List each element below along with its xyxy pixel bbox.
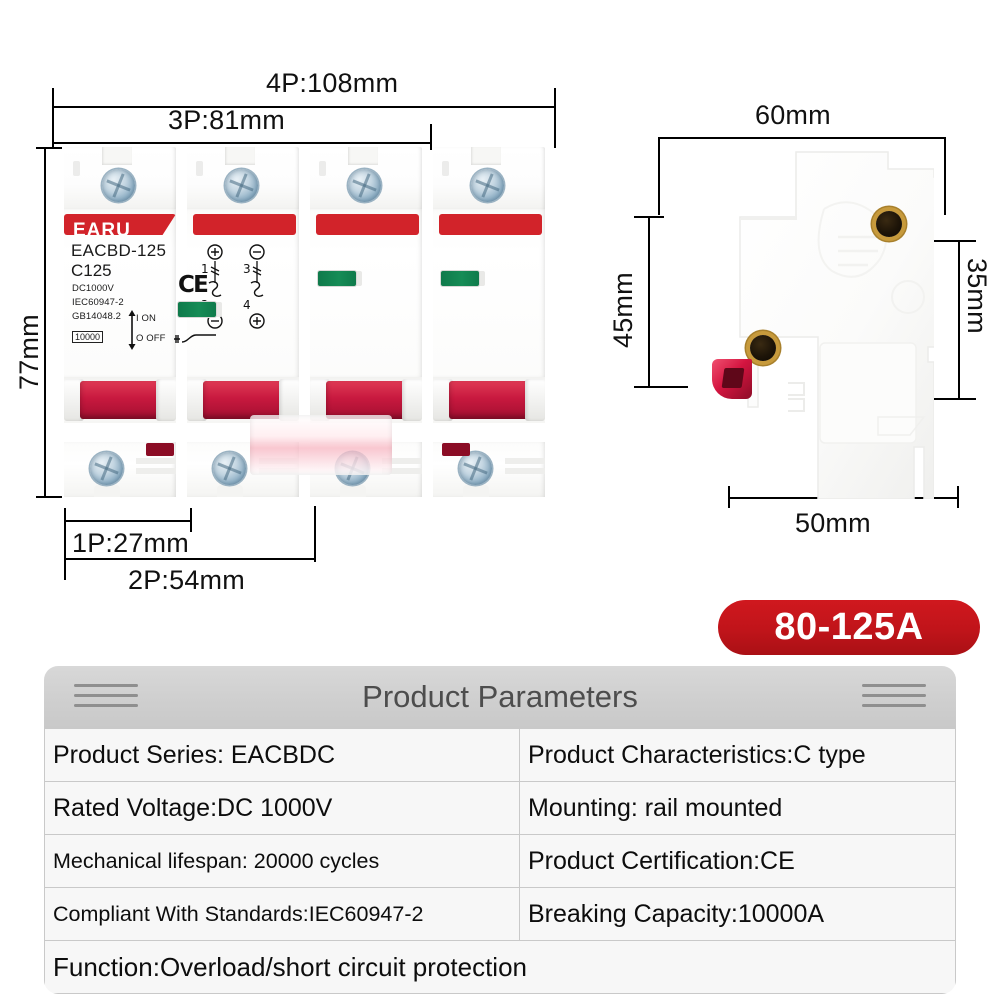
table-row: Mechanical lifespan: 20000 cycles Produc… (45, 835, 956, 888)
table-row: Compliant With Standards:IEC60947-2 Brea… (45, 888, 956, 941)
breaker-front-view: EARU EACBD-125 C125 DC1000V IEC60947-2 G… (62, 147, 554, 497)
param-product-series: Product Series: EACBDC (45, 729, 520, 782)
dimension-label-height: 77mm (14, 314, 45, 390)
device-model: EACBD-125 (71, 241, 166, 261)
device-standard-2: GB14048.2 (72, 311, 121, 322)
dimension-label-2p: 2P:54mm (128, 565, 245, 596)
pole-body-upper (433, 209, 545, 377)
dimension-label-4p: 4P:108mm (266, 68, 398, 99)
pole-body-upper (310, 209, 422, 377)
handle-rib-right (402, 379, 422, 421)
dimension-tick-1p-right (190, 508, 192, 532)
svg-text:4: 4 (243, 298, 251, 312)
breaker-side-view (728, 147, 934, 499)
dimension-label-35mm: 35mm (961, 258, 992, 334)
device-breaking-capacity: 10000 (72, 327, 103, 345)
dimension-line-4p (52, 106, 556, 108)
isolation-symbol-icon (172, 329, 220, 349)
status-indicator-window (318, 271, 356, 286)
link-bar-slot (146, 443, 174, 456)
handle-rib-right (525, 379, 545, 421)
switch-on-label: I ON (136, 313, 156, 324)
link-bar-slot (442, 443, 470, 456)
rating-badge-text: 80-125A (774, 606, 923, 649)
device-curve: C125 (71, 261, 112, 281)
dimension-tick-4p-right (554, 88, 556, 148)
status-indicator-window (178, 302, 216, 317)
device-voltage: DC1000V (72, 283, 114, 294)
dimension-tick-45mm-top (634, 216, 664, 218)
dimension-label-3p: 3P:81mm (168, 105, 285, 136)
pole-body-upper: EARU EACBD-125 C125 DC1000V IEC60947-2 G… (64, 209, 176, 377)
param-certification: Product Certification:CE (520, 835, 956, 888)
breaking-value: 10000 (72, 331, 103, 343)
breaker-handle[interactable] (326, 381, 406, 419)
handle-rib-right (156, 379, 176, 421)
ce-mark-icon: C E (178, 272, 207, 298)
terminal-slot (196, 161, 203, 176)
breaker-handle[interactable] (449, 381, 529, 419)
brand-logo: EARU (73, 220, 131, 242)
dimension-line-45mm (648, 216, 650, 386)
mounting-hole-bottom-left (750, 335, 776, 361)
table-row: Rated Voltage:DC 1000V Mounting: rail mo… (45, 782, 956, 835)
dimension-line-60mm (658, 137, 946, 139)
decor-band (316, 214, 419, 235)
param-function: Function:Overload/short circuit protecti… (45, 941, 956, 994)
dimension-line-1p (64, 520, 192, 522)
param-rated-voltage: Rated Voltage:DC 1000V (45, 782, 520, 835)
terminal-screw-top (348, 169, 381, 202)
switch-off-label: O OFF (136, 333, 166, 344)
decor-band (439, 214, 542, 235)
breaker-handle[interactable] (203, 381, 283, 419)
table-row: Function:Overload/short circuit protecti… (45, 941, 956, 994)
dimension-label-50mm: 50mm (795, 508, 871, 539)
bottom-notch (340, 485, 366, 497)
terminal-slot (319, 161, 326, 176)
dimension-tick-4p-left (52, 88, 54, 148)
bottom-notch (463, 485, 489, 497)
dimension-label-1p: 1P:27mm (72, 528, 189, 559)
terminal-screw-top (471, 169, 504, 202)
link-bar-center-grip[interactable] (250, 415, 392, 475)
svg-text:3: 3 (243, 262, 251, 276)
param-breaking-capacity: Breaking Capacity:10000A (520, 888, 956, 941)
terminal-notch (471, 147, 501, 165)
dimension-label-45mm: 45mm (608, 272, 639, 348)
param-product-characteristics: Product Characteristics:C type (520, 729, 956, 782)
device-standard-1: IEC60947-2 (72, 297, 124, 308)
dimension-label-60mm: 60mm (755, 100, 831, 131)
panel-title: Product Parameters (362, 679, 638, 715)
terminal-notch (348, 147, 378, 165)
dimension-tick-2p-right (314, 506, 316, 562)
parameters-table: Product Series: EACBDC Product Character… (44, 728, 956, 994)
dimension-tick-35mm-top (932, 240, 976, 242)
panel-header: Product Parameters (44, 666, 956, 728)
dimension-tick-45mm-bottom (634, 386, 688, 388)
dimension-tick-60mm-right (944, 137, 946, 215)
dimension-tick-50mm-right (957, 486, 959, 508)
dimension-line-3p (52, 142, 432, 144)
side-profile-shape (728, 147, 934, 499)
bottom-notch (94, 485, 120, 497)
breaker-handle[interactable] (80, 381, 160, 419)
table-row: Product Series: EACBDC Product Character… (45, 729, 956, 782)
param-mechanical-lifespan: Mechanical lifespan: 20000 cycles (45, 835, 520, 888)
terminal-notch (102, 147, 132, 165)
terminal-slot (442, 161, 449, 176)
side-handle-lever[interactable] (712, 359, 752, 399)
menu-lines-right-icon (862, 684, 926, 710)
dimension-tick-1p-left (64, 508, 66, 580)
menu-lines-left-icon (74, 684, 138, 710)
dimension-tick-height-bottom (36, 496, 62, 498)
brand-band: EARU (64, 214, 176, 235)
mounting-hole-top-right (876, 211, 902, 237)
terminal-screw-top (102, 169, 135, 202)
dimension-line-height (44, 147, 46, 497)
terminal-slot (73, 161, 80, 176)
dimension-line-2p (64, 558, 316, 560)
on-off-arrow-icon (126, 309, 138, 351)
terminal-notch (225, 147, 255, 165)
product-parameters-panel: Product Parameters Product Series: EACBD… (44, 666, 956, 956)
dimension-line-35mm (958, 240, 960, 400)
dimension-tick-height-top (36, 147, 62, 149)
dimension-tick-60mm-left (658, 137, 660, 215)
bottom-notch (217, 485, 243, 497)
param-mounting: Mounting: rail mounted (520, 782, 956, 835)
decor-band (193, 214, 296, 235)
param-standards: Compliant With Standards:IEC60947-2 (45, 888, 520, 941)
rating-badge: 80-125A (718, 600, 980, 655)
status-indicator-window (441, 271, 479, 286)
terminal-screw-top (225, 169, 258, 202)
dimension-tick-35mm-bottom (932, 398, 976, 400)
